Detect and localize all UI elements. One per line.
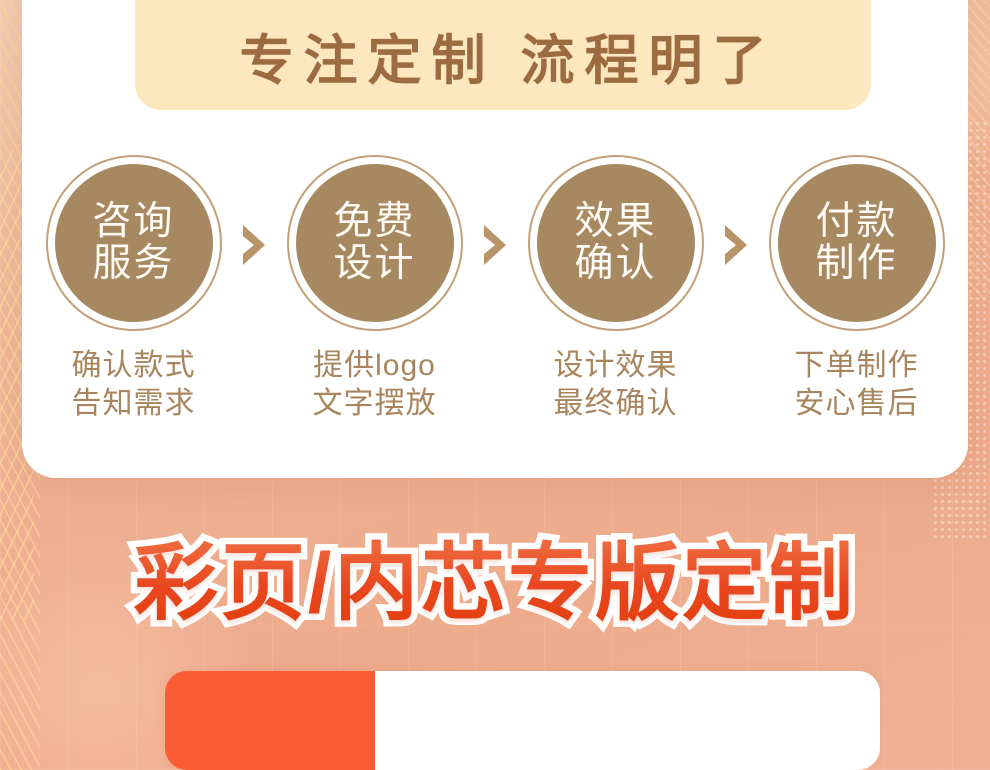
step-consultation-service[interactable]: 咨询 服务 确认款式 告知需求 xyxy=(31,155,236,424)
step-caption: 确认款式 告知需求 xyxy=(72,347,196,424)
page-title: 专注定制 流程明了 xyxy=(229,34,776,110)
circle-disc: 免费 设计 xyxy=(296,164,454,322)
bottom-action-bar[interactable] xyxy=(165,671,880,770)
circle-disc: 咨询 服务 xyxy=(55,164,213,322)
chevron-right-icon xyxy=(718,223,754,267)
chevron-right-icon xyxy=(236,223,272,267)
chevron-right-icon xyxy=(477,223,513,267)
step-label: 付款 制作 xyxy=(815,201,897,284)
step-circle: 效果 确认 xyxy=(528,155,704,331)
bottom-bar-left-segment[interactable] xyxy=(165,671,375,770)
step-free-design[interactable]: 免费 设计 提供logo 文字摆放 xyxy=(272,155,477,424)
step-caption: 提供logo 文字摆放 xyxy=(313,347,437,424)
step-label: 效果 确认 xyxy=(574,201,656,284)
step-payment-production[interactable]: 付款 制作 下单制作 安心售后 xyxy=(754,155,959,424)
step-circle: 咨询 服务 xyxy=(46,155,222,331)
bottom-bar-right-segment[interactable] xyxy=(375,671,880,770)
step-caption: 下单制作 安心售后 xyxy=(795,347,919,424)
promo-page: 专注定制 流程明了 咨询 服务 确认款式 告知需求 免费 设计 xyxy=(0,0,990,770)
step-label: 免费 设计 xyxy=(333,201,415,284)
step-label: 咨询 服务 xyxy=(92,201,174,284)
title-banner: 专注定制 流程明了 xyxy=(135,0,871,110)
process-steps: 咨询 服务 确认款式 告知需求 免费 设计 提供logo 文字摆放 xyxy=(22,155,968,455)
circle-disc: 付款 制作 xyxy=(778,164,936,322)
step-circle: 付款 制作 xyxy=(769,155,945,331)
step-caption: 设计效果 最终确认 xyxy=(554,347,678,424)
step-effect-confirmation[interactable]: 效果 确认 设计效果 最终确认 xyxy=(513,155,718,424)
step-circle: 免费 设计 xyxy=(287,155,463,331)
circle-disc: 效果 确认 xyxy=(537,164,695,322)
